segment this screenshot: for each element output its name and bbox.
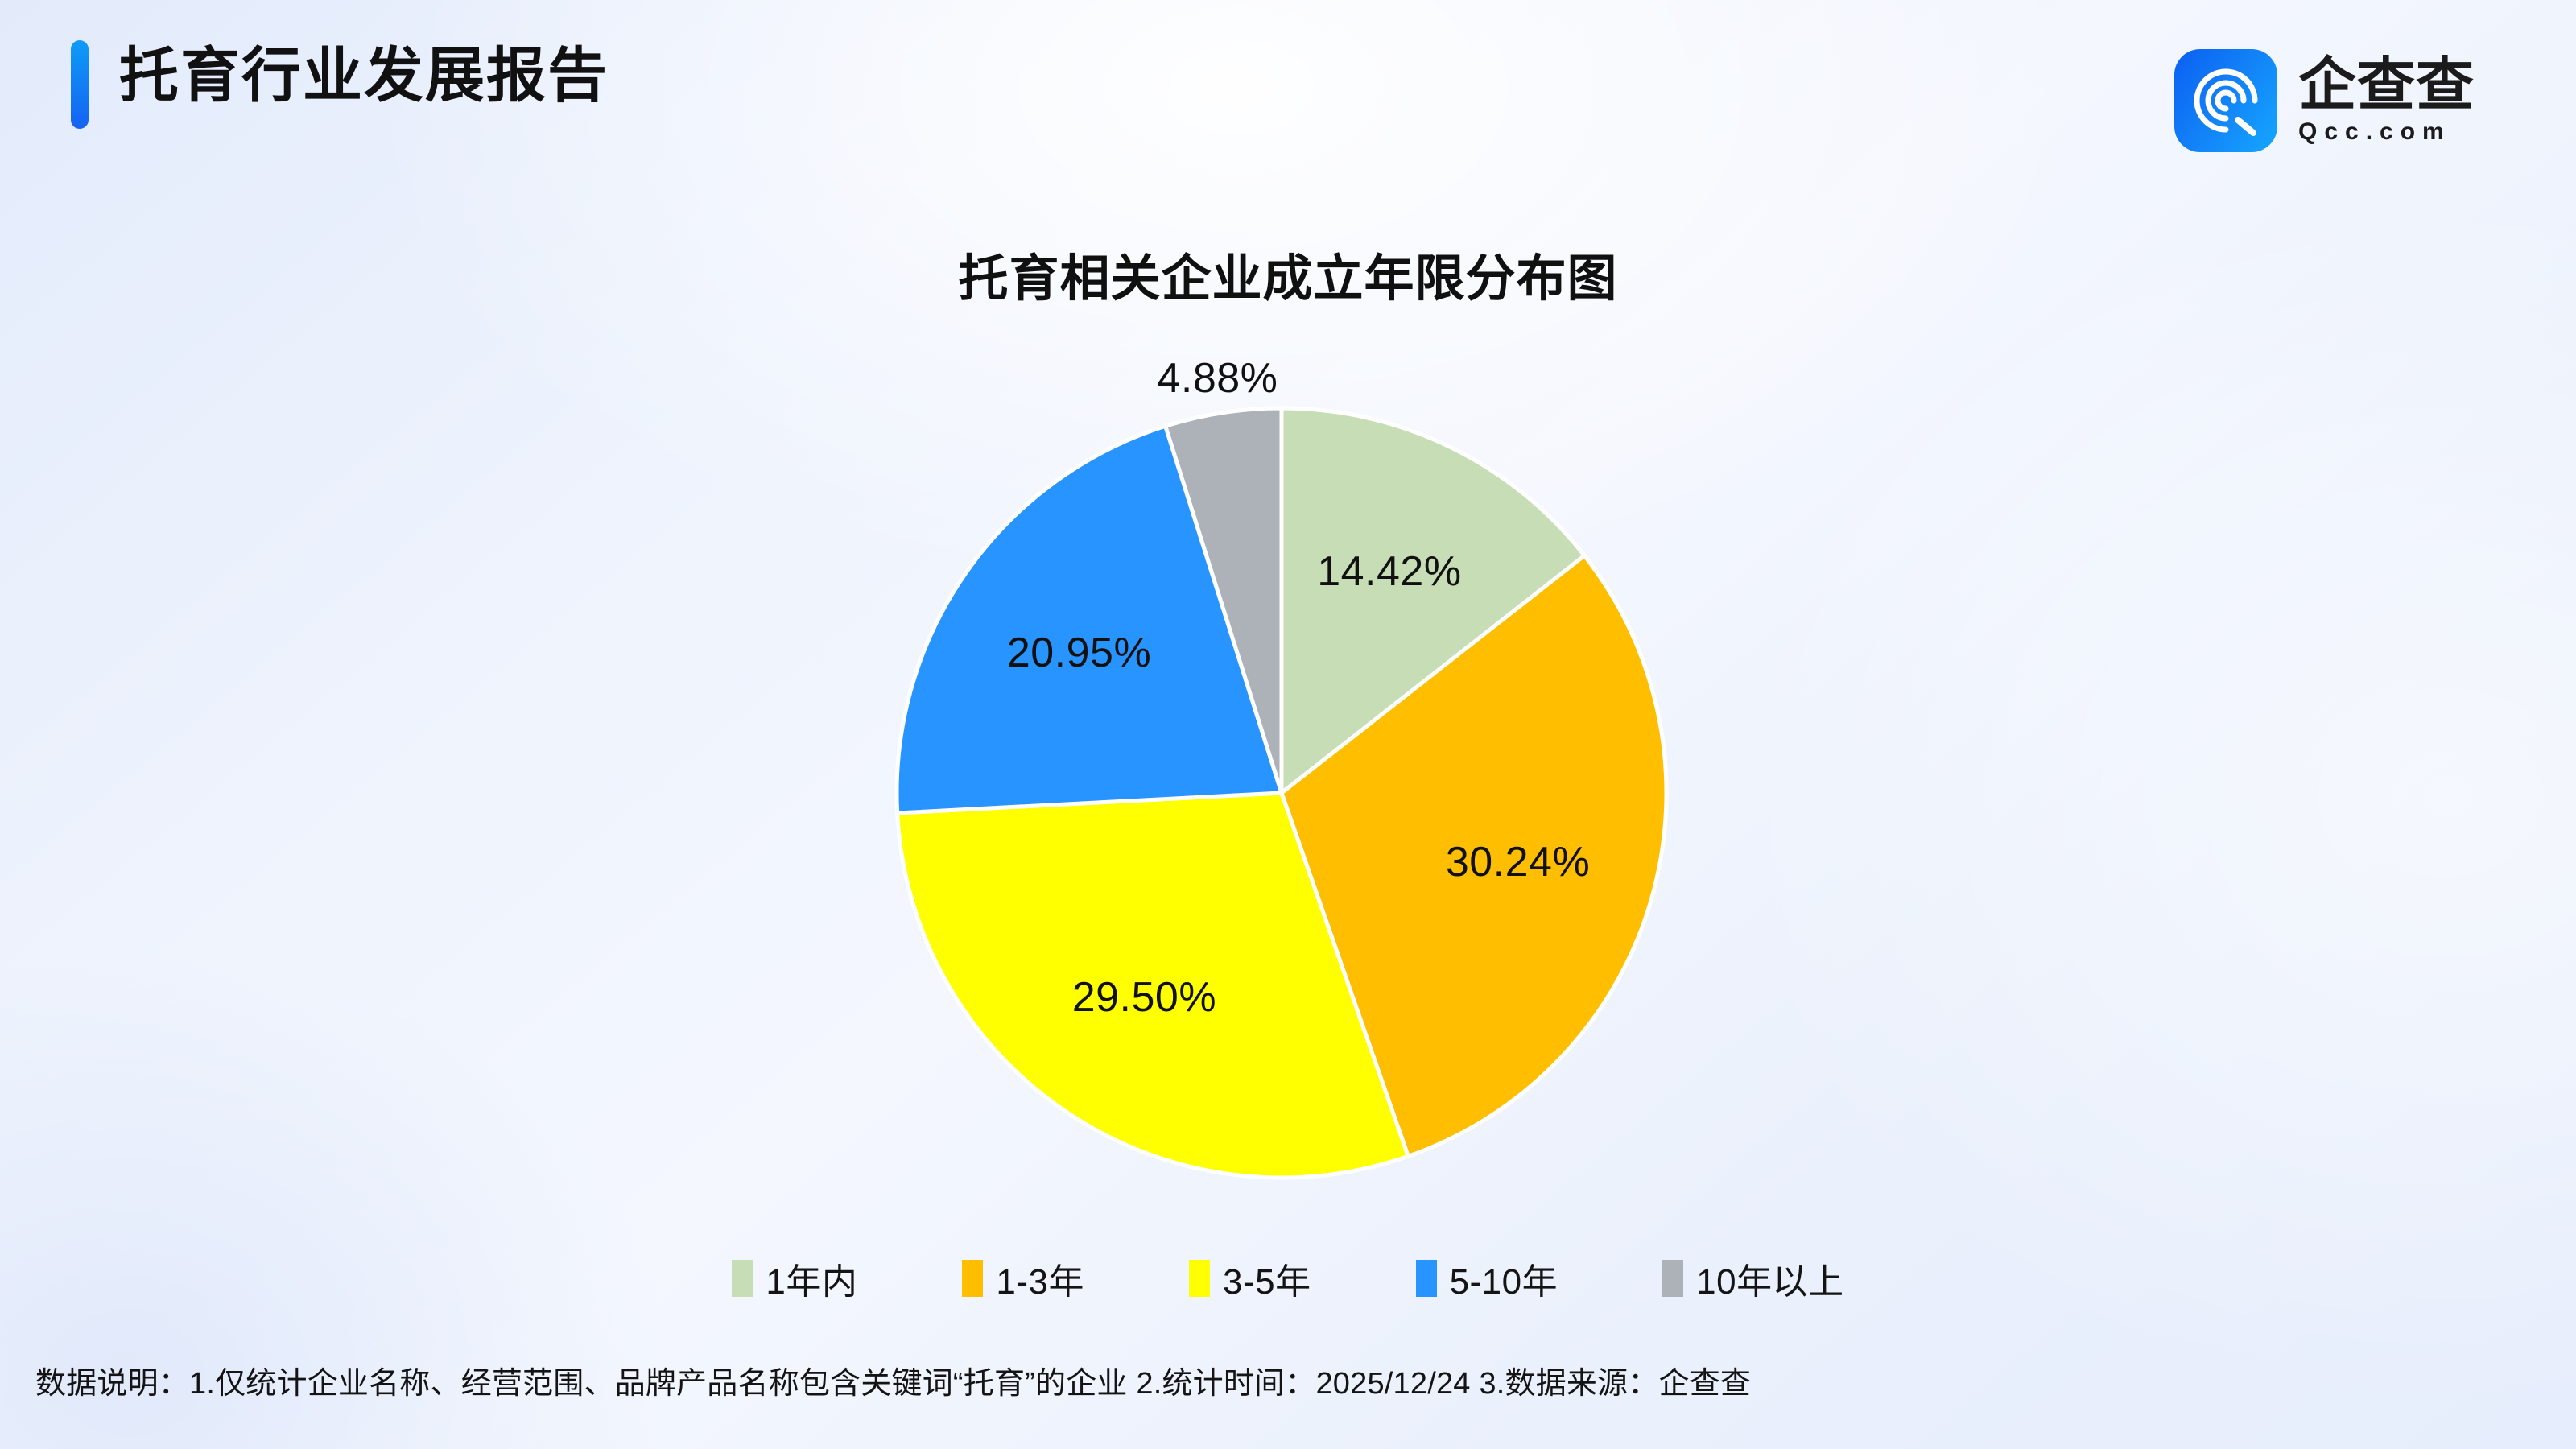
logo-name-en: Qcc.com: [2298, 117, 2475, 147]
legend-label: 10年以上: [1696, 1253, 1843, 1304]
title-accent-bar: [71, 40, 89, 129]
logo-wordmark: 企查查 Qcc.com: [2298, 49, 2475, 152]
legend-label: 5-10年: [1450, 1253, 1558, 1304]
chart-legend: 1年内1-3年3-5年5-10年10年以上: [0, 1253, 2576, 1304]
page-header: 托育行业发展报告 企查查 Qcc.com: [0, 0, 2576, 189]
logo-name-cn: 企查查: [2298, 54, 2475, 117]
legend-item[interactable]: 10年以上: [1662, 1253, 1843, 1304]
chart-title: 托育相关企业成立年限分布图: [0, 237, 2576, 310]
pie-slice-label: 14.42%: [1317, 547, 1461, 596]
legend-swatch-icon: [962, 1260, 983, 1297]
legend-swatch-icon: [1189, 1260, 1210, 1297]
legend-label: 3-5年: [1223, 1253, 1311, 1304]
pie-slice-label: 30.24%: [1446, 838, 1590, 886]
legend-item[interactable]: 1-3年: [962, 1253, 1084, 1304]
legend-label: 1年内: [766, 1253, 857, 1304]
pie-slice-label: 4.88%: [1157, 354, 1278, 402]
legend-item[interactable]: 5-10年: [1416, 1253, 1558, 1304]
legend-item[interactable]: 3-5年: [1189, 1253, 1311, 1304]
legend-item[interactable]: 1年内: [732, 1253, 857, 1304]
pie-svg: [891, 402, 1672, 1183]
qcc-logo-icon: [2174, 49, 2277, 152]
legend-swatch-icon: [732, 1260, 753, 1297]
pie-chart: 14.42%30.24%29.50%20.95%4.88%: [891, 402, 1672, 1183]
page-title: 托育行业发展报告: [119, 31, 609, 121]
pie-slice-label: 20.95%: [1007, 629, 1151, 677]
footnote: 数据说明：1.仅统计企业名称、经营范围、品牌产品名称包含关键词“托育”的企业 2…: [35, 1358, 2531, 1402]
legend-swatch-icon: [1416, 1260, 1437, 1297]
legend-label: 1-3年: [996, 1253, 1084, 1304]
brand-logo: 企查查 Qcc.com: [2174, 44, 2475, 157]
pie-slice-label: 29.50%: [1072, 973, 1216, 1022]
legend-swatch-icon: [1662, 1260, 1683, 1297]
report-canvas: 托育行业发展报告 企查查 Qcc.com 托育相关企业成立年限分布图: [0, 0, 2576, 1449]
pie-slice-group: [897, 408, 1666, 1178]
